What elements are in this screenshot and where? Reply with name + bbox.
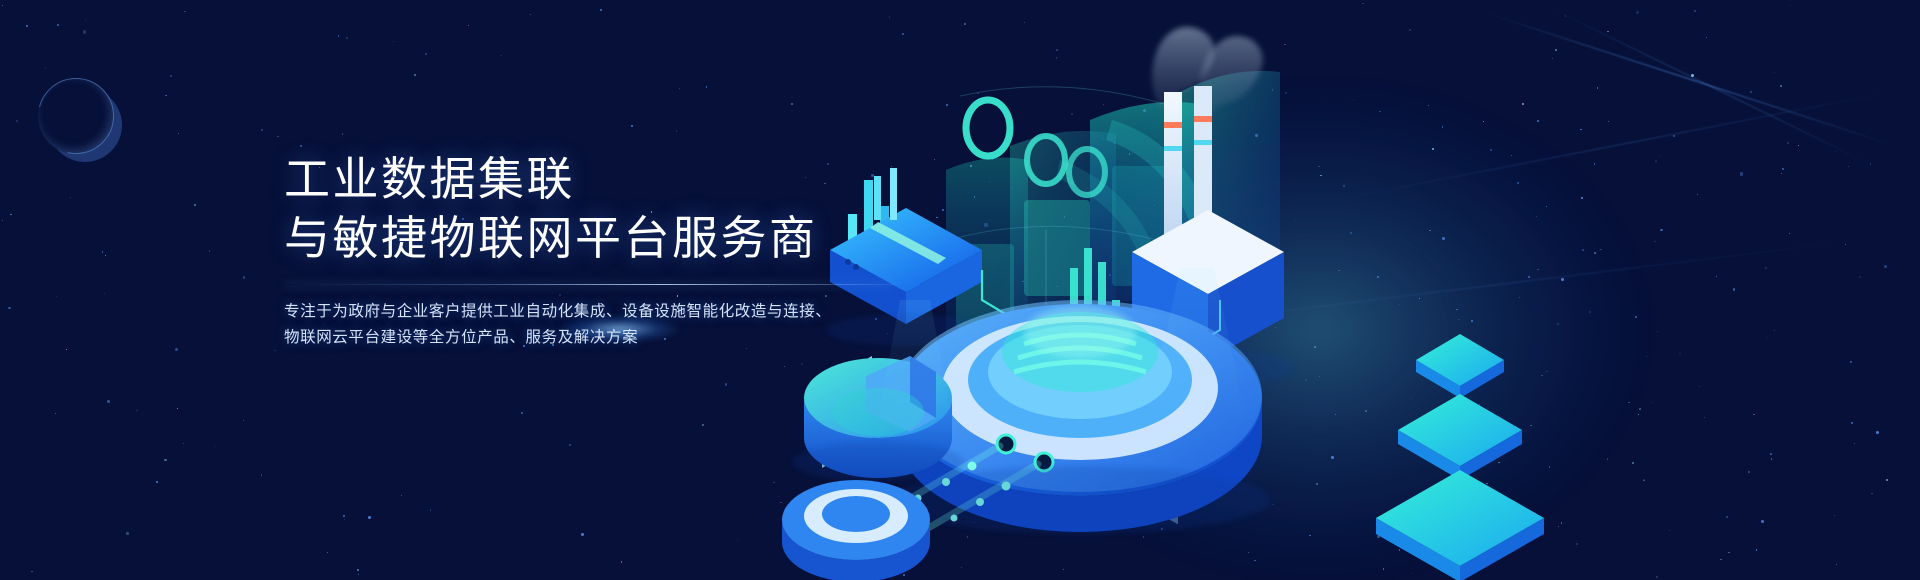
subtitle-line-1: 专注于为政府与企业客户提供工业自动化集成、设备设施智能化改造与连接、 [284,299,904,326]
subtitle-line-2: 物联网云平台建设等全方位产品、服务及解决方案 [284,325,904,352]
headline-line-2: 与敏捷物联网平台服务商 [284,209,904,268]
crescent-moon-icon [38,78,114,154]
hero-banner: 工业数据集联 与敏捷物联网平台服务商 专注于为政府与企业客户提供工业自动化集成、… [0,0,1920,580]
hero-copy: 工业数据集联 与敏捷物联网平台服务商 专注于为政府与企业客户提供工业自动化集成、… [284,150,904,352]
headline-divider [284,284,894,285]
headline-line-1: 工业数据集联 [284,150,904,209]
ring-pad [782,480,930,580]
hero-illustration [760,0,1920,580]
